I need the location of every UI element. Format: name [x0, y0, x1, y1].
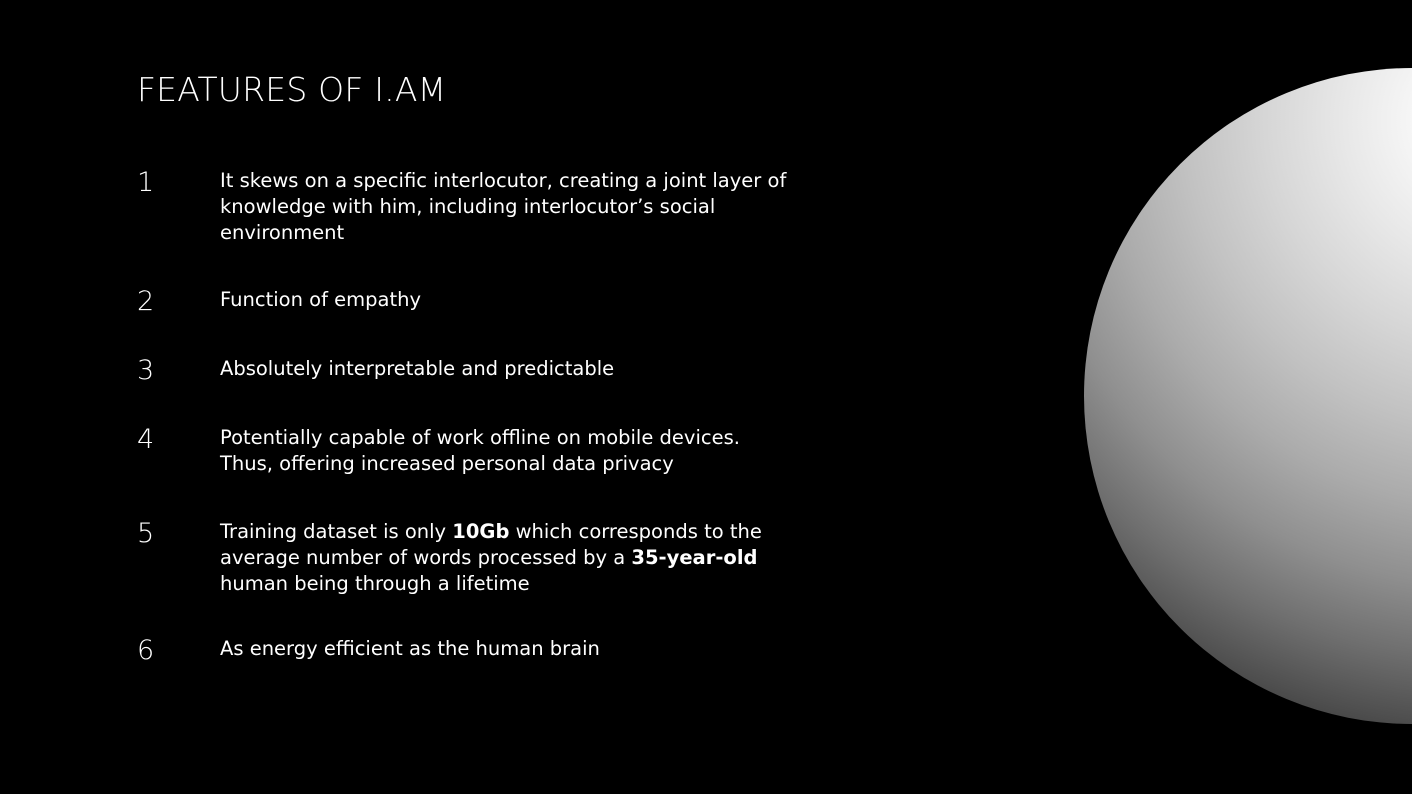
list-item-number: 3: [137, 356, 220, 385]
plain-text: Function of empathy: [220, 288, 421, 311]
list-item-text: It skews on a specific interlocutor, cre…: [220, 168, 797, 245]
list-item-number: 6: [137, 636, 220, 665]
feature-list: 1It skews on a specific interlocutor, cr…: [137, 168, 797, 665]
slide-canvas: FEATURES OF I.AM 1It skews on a specific…: [0, 0, 1412, 794]
list-item-number: 2: [137, 287, 220, 316]
plain-text: As energy efficient as the human brain: [220, 637, 600, 660]
list-item-text: Potentially capable of work offline on m…: [220, 425, 797, 477]
page-title: FEATURES OF I.AM: [137, 70, 446, 109]
list-item: 5Training dataset is only 10Gb which cor…: [137, 519, 797, 596]
list-item-text: Absolutely interpretable and predictable: [220, 356, 797, 382]
sphere-decoration: [1084, 68, 1412, 724]
plain-text: It skews on a specific interlocutor, cre…: [220, 169, 786, 244]
list-item-number: 1: [137, 168, 220, 197]
list-item: 6As energy efficient as the human brain: [137, 636, 797, 665]
list-item: 2Function of empathy: [137, 287, 797, 316]
list-item-number: 4: [137, 425, 220, 454]
list-item: 4Potentially capable of work offline on …: [137, 425, 797, 477]
list-item: 3Absolutely interpretable and predictabl…: [137, 356, 797, 385]
emphasis-text: 35-year-old: [631, 546, 757, 569]
list-item: 1It skews on a specific interlocutor, cr…: [137, 168, 797, 245]
list-item-text: Training dataset is only 10Gb which corr…: [220, 519, 797, 596]
list-item-text: As energy efficient as the human brain: [220, 636, 797, 662]
plain-text: Training dataset is only: [220, 520, 452, 543]
plain-text: Absolutely interpretable and predictable: [220, 357, 614, 380]
plain-text: Potentially capable of work offline on m…: [220, 426, 740, 475]
emphasis-text: 10Gb: [452, 520, 509, 543]
plain-text: human being through a lifetime: [220, 572, 530, 595]
list-item-text: Function of empathy: [220, 287, 797, 313]
list-item-number: 5: [137, 519, 220, 548]
